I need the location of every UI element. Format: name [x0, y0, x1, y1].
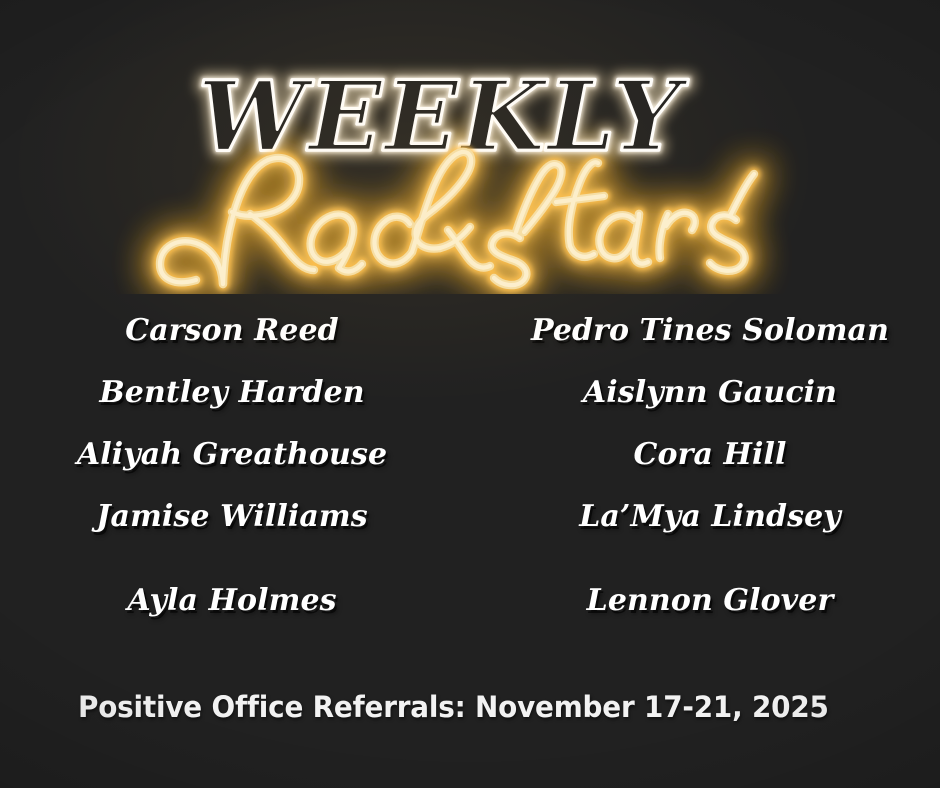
honoree-name: Aislynn Gaucin [470, 377, 940, 409]
honoree-name: Aliyah Greathouse [0, 439, 470, 471]
honoree-name: Ayla Holmes [0, 585, 470, 621]
poster-caption: Positive Office Referrals: November 17-2… [78, 690, 846, 724]
honoree-name: Pedro Tines Soloman [470, 315, 940, 347]
neon-sign-graphic: WEEKLY [0, 34, 940, 294]
honoree-name: La’Mya Lindsey [470, 501, 940, 533]
honoree-name: Cora Hill [470, 439, 940, 471]
weekly-rockstars-poster: WEEKLY [0, 0, 940, 788]
honoree-name: Carson Reed [0, 315, 470, 347]
honoree-name: Bentley Harden [0, 377, 470, 409]
honoree-name-list: Carson Reed Pedro Tines Soloman Bentley … [0, 300, 940, 620]
honoree-name: Jamise Williams [0, 501, 470, 533]
honoree-name: Lennon Glover [470, 585, 940, 621]
